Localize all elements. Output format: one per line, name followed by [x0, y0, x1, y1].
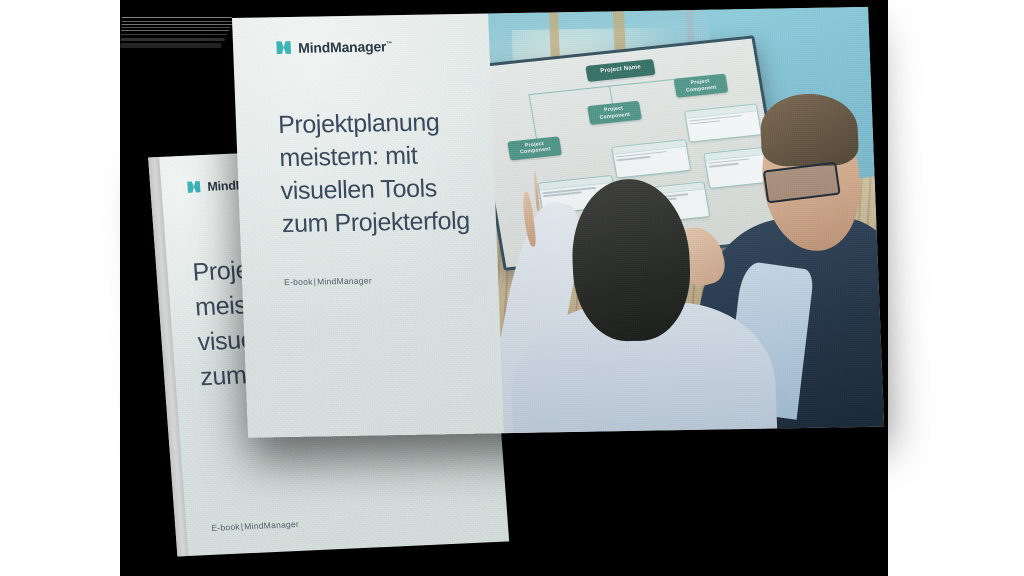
title-line: Projektplanung [278, 105, 529, 142]
stacked-page-edges [120, 17, 236, 51]
cover-footer-back: E-book|MindManager [211, 519, 299, 533]
footer-brand-front: MindManager [317, 276, 372, 287]
footer-kind-back: E-book [211, 522, 240, 533]
mindmanager-m-icon [275, 39, 293, 56]
title-line: zum Projekterfolg [281, 204, 532, 241]
cover-title-front: Projektplanung meistern: mit visuellen T… [278, 105, 533, 241]
trademark-symbol-front: ™ [386, 41, 392, 47]
footer-kind-front: E-book [284, 277, 313, 287]
footer-brand-back: MindManager [244, 519, 299, 531]
title-line: visuellen Tools [280, 171, 531, 208]
mockup-stage: MindManager™ Projektplanung meistern: mi… [0, 0, 1024, 576]
brand-wordmark-front: MindManager™ [298, 38, 392, 56]
footer-separator-front: | [313, 277, 316, 287]
title-line: meistern: mit [279, 138, 530, 175]
brand-logo-front: MindManager™ [275, 37, 393, 56]
ebook-cover-front[interactable]: Project Name Project Component Project C… [232, 7, 884, 438]
cover-footer-front: E-book|MindManager [284, 276, 372, 288]
mindmanager-m-icon [186, 179, 202, 195]
